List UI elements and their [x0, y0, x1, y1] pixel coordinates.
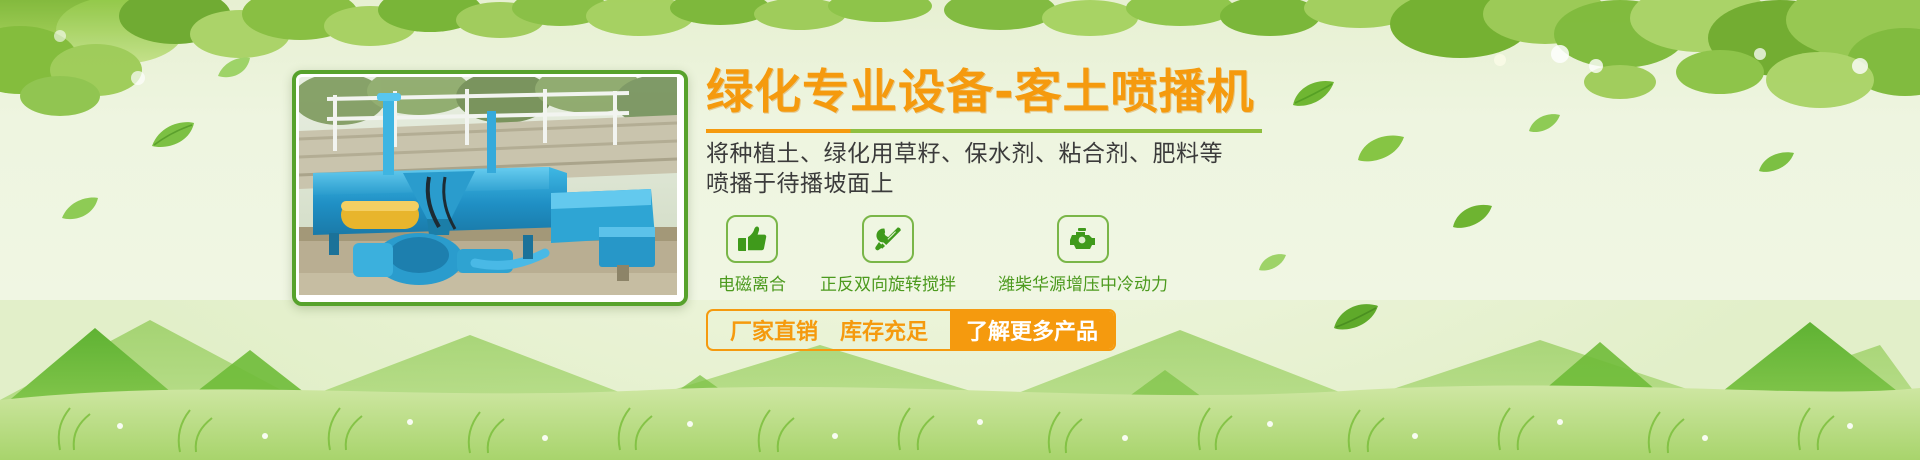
- title-divider: [706, 129, 1262, 133]
- feature-icon-box: [726, 215, 778, 263]
- feature-item-electromagnetic-clutch: 电磁离合: [706, 215, 798, 295]
- engine-icon: [1068, 226, 1098, 252]
- floating-leaf-icon: [1452, 202, 1494, 235]
- feature-icon-box: [862, 215, 914, 263]
- banner-title: 绿化专业设备-客土喷播机: [706, 64, 1326, 122]
- floating-leaf-icon: [60, 196, 100, 227]
- learn-more-button[interactable]: 了解更多产品: [950, 311, 1114, 349]
- cta-tags: 厂家直销 库存充足: [708, 311, 950, 349]
- wrench-screwdriver-icon: [873, 225, 903, 253]
- feature-icon-box: [1057, 215, 1109, 263]
- promo-banner: 绿化专业设备-客土喷播机 将种植土、绿化用草籽、保水剂、粘合剂、肥料等 喷播于待…: [0, 0, 1920, 460]
- floating-leaf-icon: [1758, 150, 1796, 179]
- feature-list: 电磁离合 正反双向旋转搅拌: [706, 215, 1326, 295]
- product-photo: [299, 77, 677, 295]
- floating-leaf-icon: [1332, 300, 1380, 337]
- floating-leaf-icon: [216, 56, 252, 85]
- product-photo-frame: [292, 70, 688, 306]
- floating-leaf-icon: [150, 120, 196, 155]
- floating-leaf-icon: [1528, 112, 1562, 139]
- cta-tag-factory-direct: 厂家直销: [730, 314, 818, 346]
- feature-item-bidirectional-mixing: 正反双向旋转搅拌: [798, 215, 978, 295]
- feature-item-weichai-power: 潍柴华源增压中冷动力: [978, 215, 1188, 295]
- banner-content: 绿化专业设备-客土喷播机 将种植土、绿化用草籽、保水剂、粘合剂、肥料等 喷播于待…: [706, 64, 1326, 351]
- floating-leaf-icon: [1356, 132, 1406, 169]
- banner-subtitle-line1: 将种植土、绿化用草籽、保水剂、粘合剂、肥料等: [706, 139, 1326, 169]
- feature-label: 潍柴华源增压中冷动力: [998, 270, 1168, 295]
- cta-row: 厂家直销 库存充足 了解更多产品: [706, 309, 1116, 351]
- cta-tag-stock: 库存充足: [840, 314, 928, 346]
- banner-subtitle-line2: 喷播于待播坡面上: [706, 169, 1326, 199]
- feature-label: 正反双向旋转搅拌: [820, 270, 956, 295]
- feature-label: 电磁离合: [718, 270, 786, 295]
- thumbs-up-icon: [737, 225, 767, 253]
